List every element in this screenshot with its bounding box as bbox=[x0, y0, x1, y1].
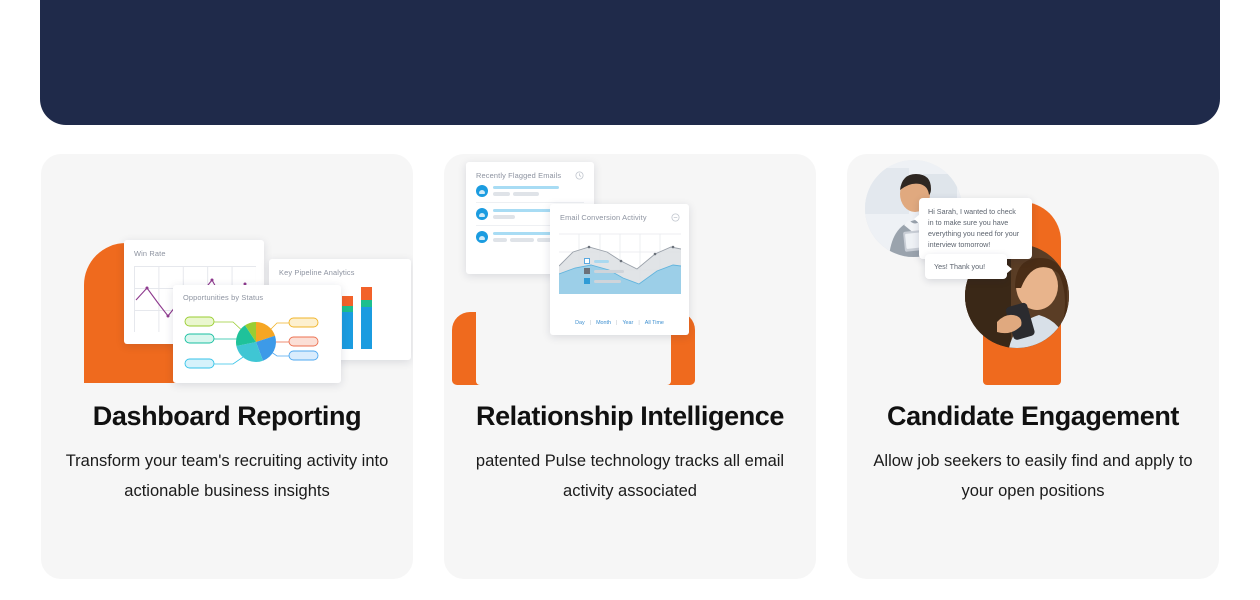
tag-chip bbox=[510, 238, 534, 242]
panel-opportunities-by-status: Opportunities by Status bbox=[173, 285, 341, 383]
tag-chip bbox=[493, 215, 515, 219]
card-title: Dashboard Reporting bbox=[93, 402, 361, 432]
opportunities-pie-chart bbox=[177, 305, 337, 379]
candidate-engagement-illustration: Hi Sarah, I wanted to check in to make s… bbox=[847, 154, 1219, 406]
hero-banner bbox=[40, 0, 1220, 125]
avatar bbox=[476, 185, 488, 197]
tab-all-time[interactable]: All Time bbox=[645, 320, 664, 326]
tab-sep: | bbox=[590, 320, 591, 326]
subject-bar bbox=[493, 186, 559, 189]
tag-chip bbox=[513, 192, 539, 196]
tab-day[interactable]: Day bbox=[575, 320, 585, 326]
panel-title-opportunities-by-status: Opportunities by Status bbox=[183, 293, 263, 302]
tag-chip bbox=[493, 192, 510, 196]
feature-card-candidate-engagement[interactable]: Hi Sarah, I wanted to check in to make s… bbox=[847, 154, 1219, 579]
chart-range-tabs[interactable]: Day | Month | Year | All Time bbox=[550, 320, 689, 326]
clock-icon bbox=[575, 171, 584, 180]
avatar bbox=[476, 231, 488, 243]
card-title: Candidate Engagement bbox=[887, 402, 1179, 432]
chat-bubble-candidate: Yes! Thank you! bbox=[925, 254, 1007, 279]
legend-swatch-jobs bbox=[584, 258, 590, 264]
panel-title-win-rate: Win Rate bbox=[134, 249, 166, 258]
list-item[interactable] bbox=[476, 180, 584, 203]
tab-sep: | bbox=[616, 320, 617, 326]
chart-legend bbox=[584, 258, 624, 284]
tag-chip bbox=[493, 238, 507, 242]
panel-title-email-conversion-activity: Email Conversion Activity bbox=[560, 213, 647, 222]
legend-swatch-candidate-inbound bbox=[584, 268, 590, 274]
minus-circle-icon bbox=[671, 213, 680, 222]
tab-month[interactable]: Month bbox=[596, 320, 611, 326]
feature-card-dashboard-reporting[interactable]: Win Rate Key Pipeline Analytics bbox=[41, 154, 413, 579]
panel-title-key-pipeline-analytics: Key Pipeline Analytics bbox=[279, 268, 355, 277]
legend-label-jobs bbox=[594, 260, 609, 263]
relationship-intelligence-illustration: Recently Flagged Emails bbox=[444, 154, 816, 406]
feature-section-page: Win Rate Key Pipeline Analytics bbox=[0, 0, 1260, 600]
feature-card-grid: Win Rate Key Pipeline Analytics bbox=[41, 154, 1219, 579]
chat-message-text: Yes! Thank you! bbox=[934, 262, 985, 271]
chat-message-text: Hi Sarah, I wanted to check in to make s… bbox=[928, 207, 1019, 249]
subject-bar bbox=[493, 209, 552, 212]
tab-year[interactable]: Year bbox=[622, 320, 633, 326]
card-description: Allow job seekers to easily find and app… bbox=[868, 446, 1198, 506]
tab-sep: | bbox=[638, 320, 639, 326]
card-description: Transform your team's recruiting activit… bbox=[62, 446, 392, 506]
dashboard-reporting-illustration: Win Rate Key Pipeline Analytics bbox=[41, 154, 413, 406]
card-title: Relationship Intelligence bbox=[476, 402, 784, 432]
panel-email-conversion-activity: Email Conversion Activity bbox=[550, 204, 689, 335]
feature-card-relationship-intelligence[interactable]: Recently Flagged Emails bbox=[444, 154, 816, 579]
card-description: patented Pulse technology tracks all ema… bbox=[465, 446, 795, 506]
legend-swatch-client-outbound bbox=[584, 278, 590, 284]
legend-label-client-outbound bbox=[594, 280, 621, 283]
legend-label-candidate-inbound bbox=[594, 270, 624, 273]
panel-title-recently-flagged-emails: Recently Flagged Emails bbox=[476, 171, 561, 180]
avatar bbox=[476, 208, 488, 220]
chat-bubble-recruiter: Hi Sarah, I wanted to check in to make s… bbox=[919, 198, 1032, 259]
